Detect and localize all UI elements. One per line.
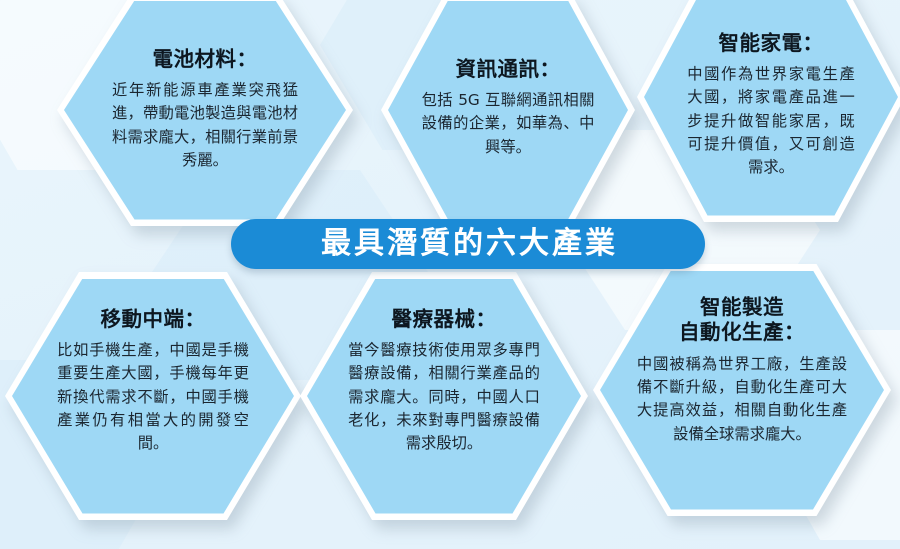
- hexagon-fill: 資訊通訊： 包括 5G 互聯網通訊相關設備的企業，如華為、中興等。: [388, 1, 628, 220]
- hexagon-title: 移動中端：: [57, 307, 249, 333]
- hexagon-outline: 移動中端： 比如手機生產，中國是手機重要生產大國，手機每年更新換代需求不斷，中國…: [5, 272, 301, 520]
- hexagon-fill: 移動中端： 比如手機生產，中國是手機重要生產大國，手機每年更新換代需求不斷，中國…: [12, 279, 294, 514]
- hexagon-content: 資訊通訊： 包括 5G 互聯網通訊相關設備的企業，如華為、中興等。: [422, 57, 595, 159]
- hexagon-outline: 資訊通訊： 包括 5G 互聯網通訊相關設備的企業，如華為、中興等。: [381, 0, 635, 226]
- hexagon-content: 醫療器械： 當今醫療技術使用眾多專門醫療設備，相關行業產品的需求龐大。同時，中國…: [348, 307, 540, 456]
- center-title-banner: 最具潛質的六大產業: [231, 219, 705, 269]
- hexagon-fill: 醫療器械： 當今醫療技術使用眾多專門醫療設備，相關行業產品的需求龐大。同時，中國…: [307, 279, 581, 514]
- hexagon-card-mobile-terminal[interactable]: 移動中端： 比如手機生產，中國是手機重要生產大國，手機每年更新換代需求不斷，中國…: [5, 272, 301, 520]
- hexagon-title: 資訊通訊：: [422, 57, 595, 83]
- hexagon-content: 電池材料： 近年新能源車產業突飛猛進，帶動電池製造與電池材料需求龐大，相關行業前…: [112, 47, 298, 173]
- hexagon-body: 比如手機生產，中國是手機重要生產大國，手機每年更新換代需求不斷，中國手機產業仍有…: [57, 339, 249, 455]
- hexagon-title: 智能製造 自動化生產：: [637, 295, 847, 346]
- hexagon-card-medical-devices[interactable]: 醫療器械： 當今醫療技術使用眾多專門醫療設備，相關行業產品的需求龐大。同時，中國…: [300, 272, 588, 520]
- hexagon-outline: 醫療器械： 當今醫療技術使用眾多專門醫療設備，相關行業產品的需求龐大。同時，中國…: [300, 272, 588, 520]
- center-title-text: 最具潛質的六大產業: [318, 229, 618, 259]
- hexagon-card-battery[interactable]: 電池材料： 近年新能源車產業突飛猛進，帶動電池製造與電池材料需求龐大，相關行業前…: [57, 0, 353, 226]
- hexagon-content: 智能家電： 中國作為世界家電生產大國，將家電產品進一步提升做智能家居，既可提升價…: [687, 31, 855, 180]
- hexagon-content: 智能製造 自動化生產： 中國被稱為世界工廠，生產設備不斷升級，自動化生產可大大提…: [637, 295, 847, 446]
- hexagon-outline: 智能製造 自動化生產： 中國被稱為世界工廠，生產設備不斷升級，自動化生產可大大提…: [593, 264, 891, 516]
- hexagon-body: 包括 5G 互聯網通訊相關設備的企業，如華為、中興等。: [422, 89, 595, 159]
- infographic-root: 電池材料： 近年新能源車產業突飛猛進，帶動電池製造與電池材料需求龐大，相關行業前…: [0, 0, 900, 549]
- hexagon-title: 醫療器械：: [348, 307, 540, 333]
- hexagon-fill: 智能製造 自動化生產： 中國被稱為世界工廠，生產設備不斷升級，自動化生產可大大提…: [600, 271, 884, 510]
- hexagon-outline: 智能家電： 中國作為世界家電生產大國，將家電產品進一步提升做智能家居，既可提升價…: [637, 0, 900, 222]
- hexagon-title: 智能家電：: [687, 31, 855, 57]
- hexagon-body: 中國被稱為世界工廠，生產設備不斷升級，自動化生產可大大提高效益，相關自動化生產設…: [637, 353, 847, 446]
- hexagon-fill: 電池材料： 近年新能源車產業突飛猛進，帶動電池製造與電池材料需求龐大，相關行業前…: [64, 1, 346, 220]
- hexagon-title: 電池材料：: [112, 47, 298, 73]
- hexagon-outline: 電池材料： 近年新能源車產業突飛猛進，帶動電池製造與電池材料需求龐大，相關行業前…: [57, 0, 353, 226]
- hexagon-card-smart-manufacturing[interactable]: 智能製造 自動化生產： 中國被稱為世界工廠，生產設備不斷升級，自動化生產可大大提…: [593, 264, 891, 516]
- hexagon-card-smart-appliance[interactable]: 智能家電： 中國作為世界家電生產大國，將家電產品進一步提升做智能家居，既可提升價…: [637, 0, 900, 222]
- hexagon-body: 近年新能源車產業突飛猛進，帶動電池製造與電池材料需求龐大，相關行業前景秀麗。: [112, 79, 298, 172]
- hexagon-body: 當今醫療技術使用眾多專門醫療設備，相關行業產品的需求龐大。同時，中國人口老化，未…: [348, 339, 540, 455]
- hexagon-body: 中國作為世界家電生產大國，將家電產品進一步提升做智能家居，既可提升價值，又可創造…: [687, 63, 855, 179]
- hexagon-fill: 智能家電： 中國作為世界家電生產大國，將家電產品進一步提升做智能家居，既可提升價…: [644, 0, 898, 216]
- hexagon-card-ict[interactable]: 資訊通訊： 包括 5G 互聯網通訊相關設備的企業，如華為、中興等。: [381, 0, 635, 226]
- hexagon-content: 移動中端： 比如手機生產，中國是手機重要生產大國，手機每年更新換代需求不斷，中國…: [57, 307, 249, 456]
